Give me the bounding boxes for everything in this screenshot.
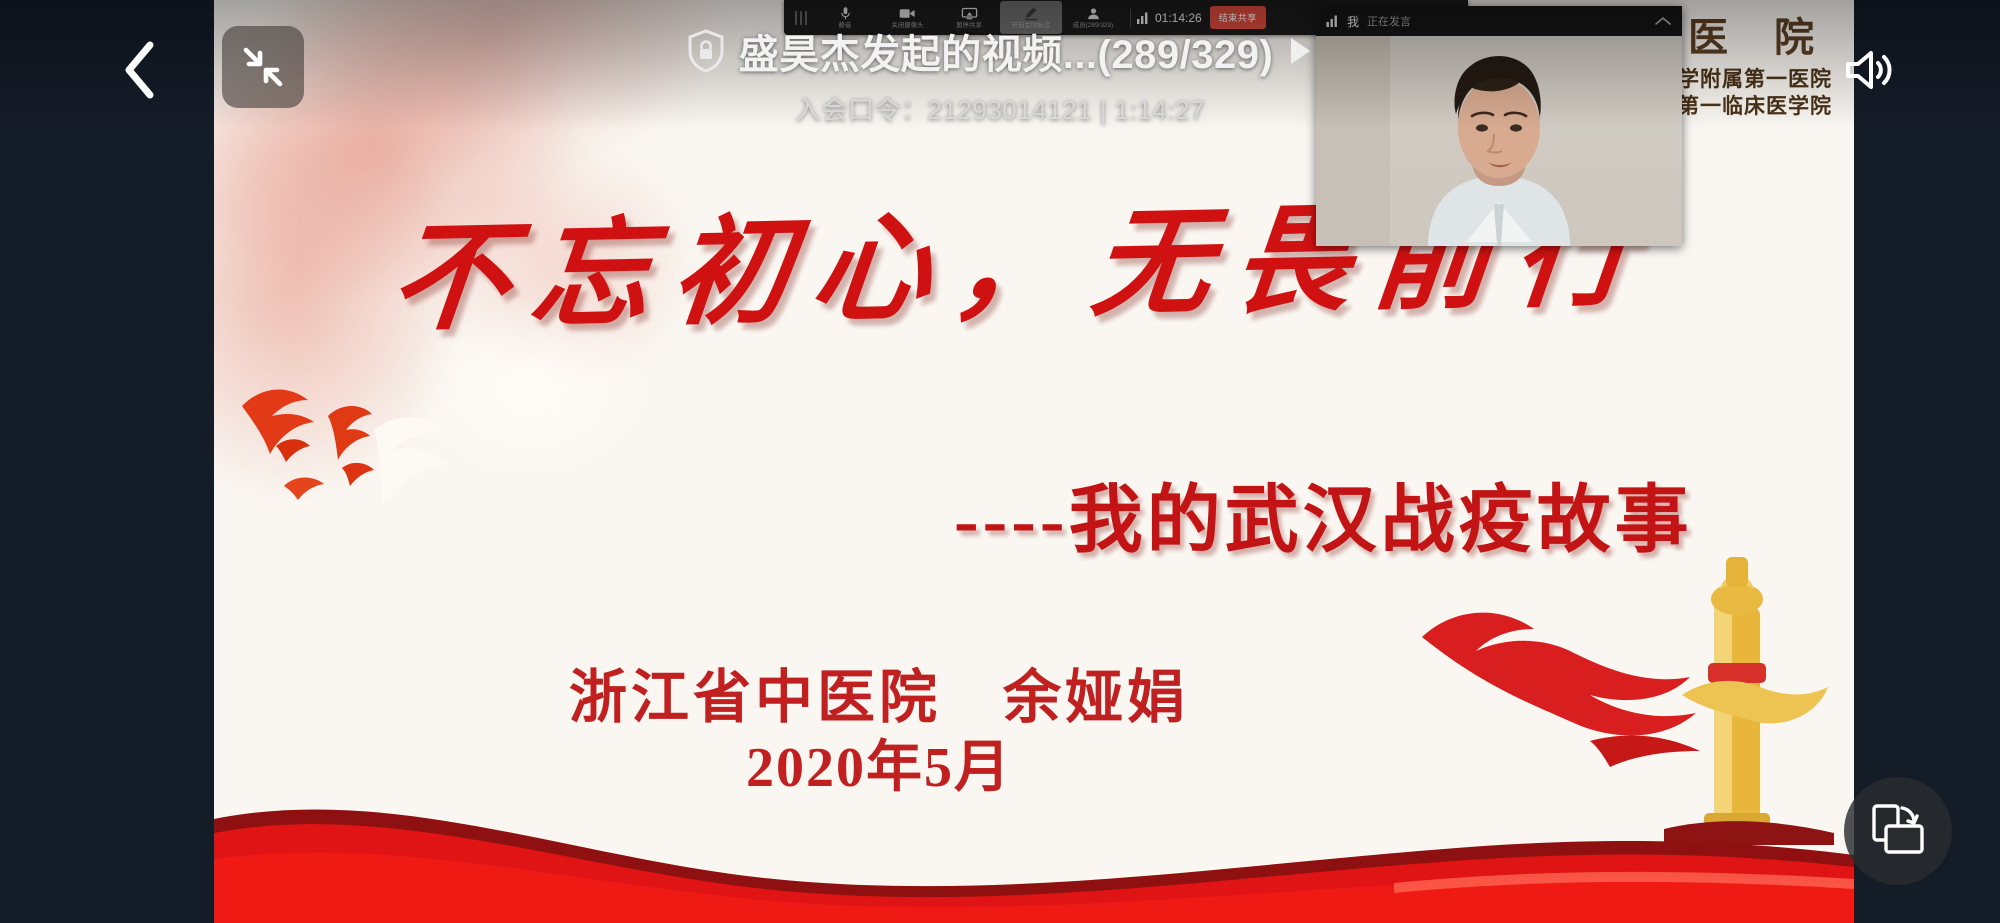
rotate-screen-button[interactable] bbox=[1844, 777, 1952, 885]
signal-bars-icon bbox=[1137, 12, 1149, 24]
camera-label: 关闭摄像头 bbox=[891, 22, 923, 29]
self-view-header[interactable]: 我 正在发言 bbox=[1316, 6, 1682, 36]
members-button[interactable]: 成员(289/329) bbox=[1062, 1, 1124, 34]
self-view-state: 正在发言 bbox=[1367, 13, 1411, 29]
annotate-label: 开启会同标注 bbox=[1012, 22, 1051, 29]
chevron-up-icon[interactable] bbox=[1654, 15, 1672, 27]
volume-on-icon bbox=[1844, 47, 1896, 93]
mute-button[interactable]: 静音 bbox=[814, 1, 876, 34]
volume-button[interactable] bbox=[1832, 32, 1908, 108]
rotate-screen-icon bbox=[1869, 802, 1927, 860]
share-timer: 01:14:26 bbox=[1137, 11, 1202, 25]
share-timer-value: 01:14:26 bbox=[1155, 11, 1202, 25]
toolbar-divider bbox=[1130, 9, 1131, 27]
shrink-arrows-icon bbox=[240, 44, 286, 90]
exit-fullscreen-button[interactable] bbox=[222, 26, 304, 108]
annotate-icon bbox=[1023, 6, 1039, 21]
members-icon bbox=[1086, 6, 1101, 21]
microphone-icon bbox=[838, 6, 853, 21]
share-screen-button[interactable]: 暂停共享 bbox=[938, 1, 1000, 34]
back-button[interactable] bbox=[105, 35, 175, 105]
participant-webcam-image bbox=[1316, 36, 1682, 246]
video-player-screen: 中 医 院 学附属第一医院 学第一临床医学院 不忘初心，无畏前行 ----我的武… bbox=[0, 0, 2000, 923]
share-screen-icon bbox=[961, 6, 978, 21]
stop-share-button[interactable]: 结束共享 bbox=[1210, 6, 1266, 29]
flying-doves-icon bbox=[224, 350, 524, 520]
drag-grip-icon[interactable] bbox=[794, 10, 808, 26]
chevron-left-icon bbox=[119, 39, 161, 101]
share-screen-label: 暂停共享 bbox=[956, 22, 982, 29]
self-view-window[interactable]: 我 正在发言 bbox=[1316, 6, 1682, 246]
members-label: 成员(289/329) bbox=[1073, 22, 1113, 29]
mute-label: 静音 bbox=[839, 22, 852, 29]
red-ribbon-wave-icon bbox=[214, 763, 1854, 923]
camera-button[interactable]: 关闭摄像头 bbox=[876, 1, 938, 34]
signal-bars-icon bbox=[1326, 15, 1339, 27]
camera-icon bbox=[899, 6, 916, 21]
self-view-video bbox=[1316, 36, 1682, 246]
annotate-button[interactable]: 开启会同标注 bbox=[1000, 1, 1062, 34]
self-view-name: 我 bbox=[1347, 13, 1359, 30]
